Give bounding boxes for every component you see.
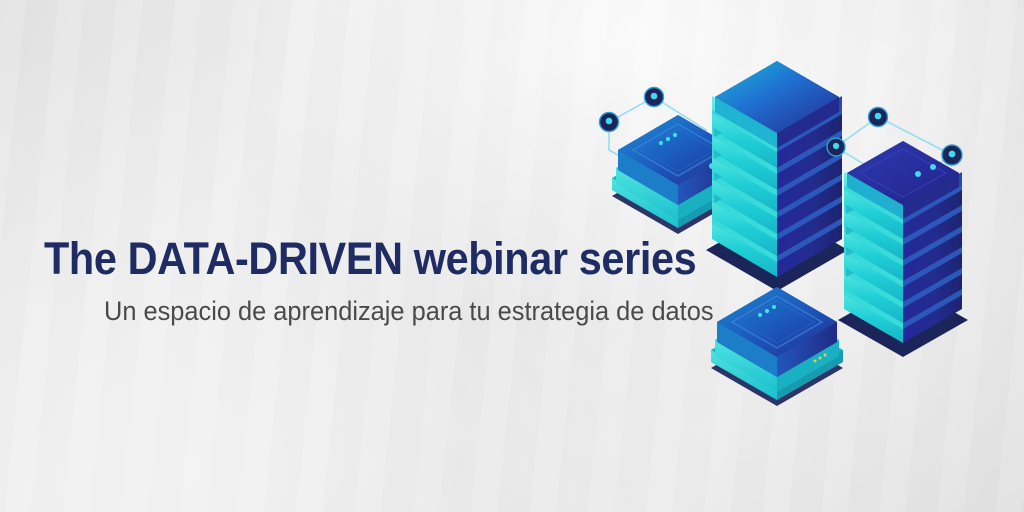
node-center-right bbox=[827, 138, 845, 156]
server-rack-center bbox=[706, 61, 848, 291]
node-right-upper bbox=[869, 108, 888, 127]
server-rack-right bbox=[838, 141, 968, 357]
node-left-outer bbox=[600, 113, 619, 132]
node-right-outer bbox=[942, 145, 962, 165]
node-small-b bbox=[915, 171, 921, 177]
page-title: The DATA-DRIVEN webinar series bbox=[44, 236, 670, 281]
node-left-upper bbox=[645, 88, 664, 107]
flat-server-bottom bbox=[711, 287, 843, 406]
webinar-banner: The DATA-DRIVEN webinar series Un espaci… bbox=[0, 0, 1024, 512]
text-block: The DATA-DRIVEN webinar series Un espaci… bbox=[44, 236, 724, 327]
node-small-a bbox=[930, 164, 936, 170]
page-subtitle: Un espacio de aprendizaje para tu estrat… bbox=[104, 297, 687, 327]
